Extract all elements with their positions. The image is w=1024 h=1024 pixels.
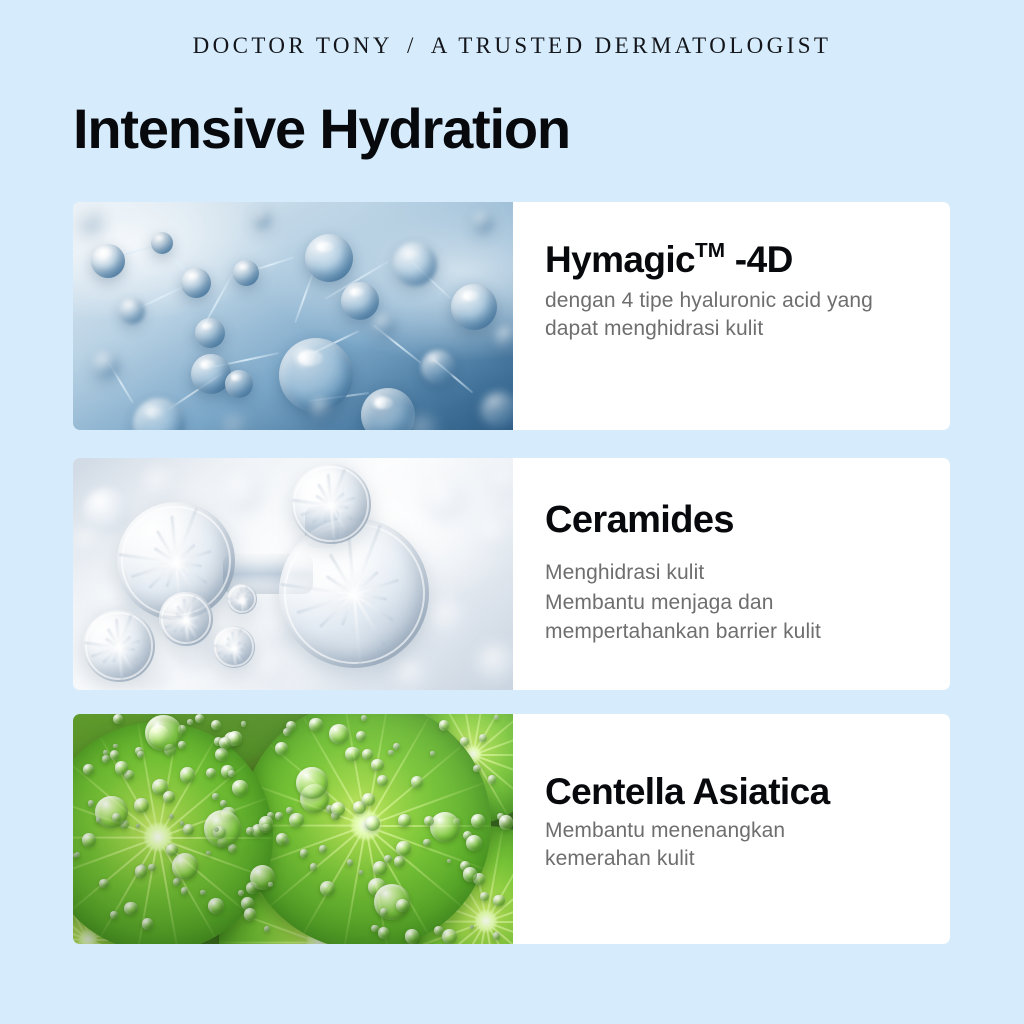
background-bokeh — [423, 478, 467, 522]
background-bokeh — [83, 488, 129, 534]
page-title: Intensive Hydration — [73, 99, 570, 159]
description-line: dengan 4 tipe hyaluronic acid yang — [545, 287, 926, 315]
dew-drop — [195, 714, 204, 723]
dew-drop — [135, 865, 147, 877]
dew-drop — [405, 929, 420, 944]
dew-drop — [347, 859, 353, 865]
dew-drop — [396, 899, 409, 912]
dew-drop — [145, 715, 182, 752]
background-bokeh — [477, 644, 513, 684]
molecule-atom — [361, 388, 415, 430]
molecule-atom — [79, 210, 101, 232]
dew-drop — [268, 882, 273, 887]
water-sphere — [227, 584, 257, 614]
dew-drop — [134, 798, 149, 813]
molecule-atom — [481, 392, 513, 428]
dew-drop — [142, 918, 153, 929]
dew-drop — [95, 796, 127, 828]
infographic-page: DOCTOR TONY/A TRUSTED DERMATOLOGIST Inte… — [0, 0, 1024, 1024]
background-bokeh — [73, 528, 103, 558]
molecule-atom — [305, 234, 353, 282]
dew-drop — [232, 780, 247, 795]
molecule-atom — [93, 352, 119, 378]
brand-eyebrow: DOCTOR TONY/A TRUSTED DERMATOLOGIST — [0, 33, 1024, 59]
dew-drop — [112, 813, 121, 822]
dew-drop — [331, 802, 345, 816]
dew-drop — [75, 852, 80, 857]
ingredient-text-block: Centella Asiatica Membantu menenangkan k… — [513, 714, 950, 944]
dew-drop — [320, 881, 335, 896]
ingredient-title: HymagicTM -4D — [545, 240, 926, 281]
dew-drop — [396, 841, 411, 856]
molecule-atom — [311, 398, 333, 420]
dew-drop — [259, 816, 273, 830]
dew-drop — [310, 863, 317, 870]
dew-drop — [493, 895, 504, 906]
dew-drop — [289, 813, 304, 828]
background-bokeh — [477, 518, 513, 554]
molecule-atom — [223, 416, 249, 430]
brand-name: DOCTOR TONY — [193, 33, 393, 58]
dew-drop — [493, 932, 500, 939]
dew-drop — [166, 844, 178, 856]
background-bokeh — [223, 474, 263, 514]
dew-drop — [466, 835, 482, 851]
dew-drop — [470, 925, 474, 929]
dew-drop — [180, 767, 195, 782]
molecule-atom — [373, 314, 395, 336]
dew-drop — [356, 731, 366, 741]
dew-drop — [102, 755, 110, 763]
dew-drop — [411, 776, 423, 788]
water-sphere — [83, 610, 155, 682]
dew-drop — [96, 817, 102, 823]
dew-drop — [220, 800, 227, 807]
molecule-artwork — [73, 202, 513, 430]
brand-separator: / — [393, 33, 431, 59]
ingredient-text-block: HymagicTM -4D dengan 4 tipe hyaluronic a… — [513, 202, 950, 430]
molecule-atom — [393, 242, 437, 286]
dew-drop — [296, 767, 328, 799]
water-sphere — [159, 592, 213, 646]
dew-drop — [183, 824, 193, 834]
dew-drop — [380, 908, 388, 916]
leaf-vein — [219, 942, 319, 944]
dew-drop — [99, 879, 108, 888]
dew-drop — [172, 853, 198, 879]
dew-drop — [208, 898, 224, 914]
dew-drop — [181, 887, 188, 894]
dew-drop — [238, 890, 244, 896]
ingredient-card-hymagic: HymagicTM -4D dengan 4 tipe hyaluronic a… — [73, 202, 950, 430]
molecule-atom — [451, 284, 497, 330]
dew-drop — [276, 833, 288, 845]
brand-tagline: A TRUSTED DERMATOLOGIST — [431, 33, 832, 58]
ingredient-image-crystal — [73, 458, 513, 690]
molecule-atom — [91, 244, 125, 278]
dew-drop — [430, 812, 460, 842]
ingredient-description: dengan 4 tipe hyaluronic acid yang dapat… — [545, 287, 926, 344]
background-bokeh — [493, 468, 513, 496]
dew-drop — [423, 839, 431, 847]
molecule-atom — [473, 212, 493, 232]
dew-drop — [228, 770, 235, 777]
ingredient-image-leaves — [73, 714, 513, 944]
dew-drop — [286, 807, 293, 814]
dew-drop — [471, 814, 485, 828]
dew-drop — [362, 749, 373, 760]
water-sphere — [279, 518, 429, 668]
dew-drop — [473, 765, 481, 773]
dew-drop — [83, 764, 94, 775]
ingredient-title: Ceramides — [545, 500, 926, 542]
background-bokeh — [395, 658, 429, 690]
dew-drop — [246, 827, 254, 835]
dew-drop — [88, 800, 94, 806]
dew-drop — [200, 890, 206, 896]
description-line: mempertahankan barrier kulit — [545, 617, 926, 647]
ingredient-description: Membantu menenangkan kemerahan kulit — [545, 817, 926, 874]
description-line: Membantu menenangkan — [545, 817, 926, 845]
background-bokeh — [253, 654, 285, 686]
ingredient-title: Centella Asiatica — [545, 772, 926, 813]
ingredient-card-centella: Centella Asiatica Membantu menenangkan k… — [73, 714, 950, 944]
background-bokeh — [143, 468, 177, 502]
description-line: Membantu menjaga dan — [545, 588, 926, 618]
dew-drop — [241, 721, 247, 727]
dew-drop — [488, 775, 496, 783]
molecule-atom — [225, 370, 253, 398]
dew-drop — [244, 908, 257, 921]
description-line: Menghidrasi kulit — [545, 558, 926, 588]
dew-drop — [345, 747, 360, 762]
water-sphere — [213, 626, 255, 668]
dew-drop — [378, 927, 389, 938]
dew-drop — [362, 793, 375, 806]
molecule-atom — [195, 318, 225, 348]
molecule-atom — [233, 260, 259, 286]
molecule-atom — [119, 298, 145, 324]
description-line: kemerahan kulit — [545, 845, 926, 873]
dew-drop — [430, 751, 434, 755]
dew-drop — [371, 759, 384, 772]
ingredient-text-block: Ceramides Menghidrasi kulit Membantu men… — [513, 458, 950, 690]
dew-drop — [173, 878, 181, 886]
ingredient-description: Menghidrasi kulit Membantu menjaga dan m… — [545, 558, 926, 647]
dew-drop — [463, 867, 477, 881]
molecule-atom — [181, 268, 211, 298]
dew-drop — [187, 719, 193, 725]
molecule-atom — [421, 350, 455, 384]
molecule-atom — [253, 210, 271, 228]
water-sphere — [291, 464, 371, 544]
ingredient-image-molecules — [73, 202, 513, 430]
dew-drop — [309, 718, 322, 731]
ingredient-card-ceramides: Ceramides Menghidrasi kulit Membantu men… — [73, 458, 950, 690]
dew-drop — [479, 734, 487, 742]
dew-drop — [148, 864, 156, 872]
dew-drop — [388, 750, 394, 756]
background-bokeh — [425, 598, 469, 642]
dew-drop — [499, 815, 513, 829]
dew-drop — [115, 761, 129, 775]
molecule-atom — [341, 282, 379, 320]
molecule-atom — [151, 232, 173, 254]
ingredient-title-suffix: -4D — [725, 239, 793, 280]
dew-drop — [394, 856, 405, 867]
dew-drop — [480, 892, 489, 901]
dew-drop — [371, 925, 379, 933]
description-line: dapat menghidrasi kulit — [545, 315, 926, 343]
crystal-artwork — [73, 458, 513, 690]
dew-drop — [212, 793, 219, 800]
trademark-mark: TM — [695, 239, 725, 262]
leaves-artwork — [73, 714, 513, 944]
ingredient-title-main: Hymagic — [545, 239, 695, 280]
dew-drop — [113, 714, 123, 724]
dew-drop — [434, 926, 443, 935]
dew-drop — [211, 720, 221, 730]
molecule-bond — [294, 273, 314, 324]
dew-drop — [460, 737, 469, 746]
dew-drop — [113, 744, 117, 748]
molecule-atom — [495, 326, 513, 350]
